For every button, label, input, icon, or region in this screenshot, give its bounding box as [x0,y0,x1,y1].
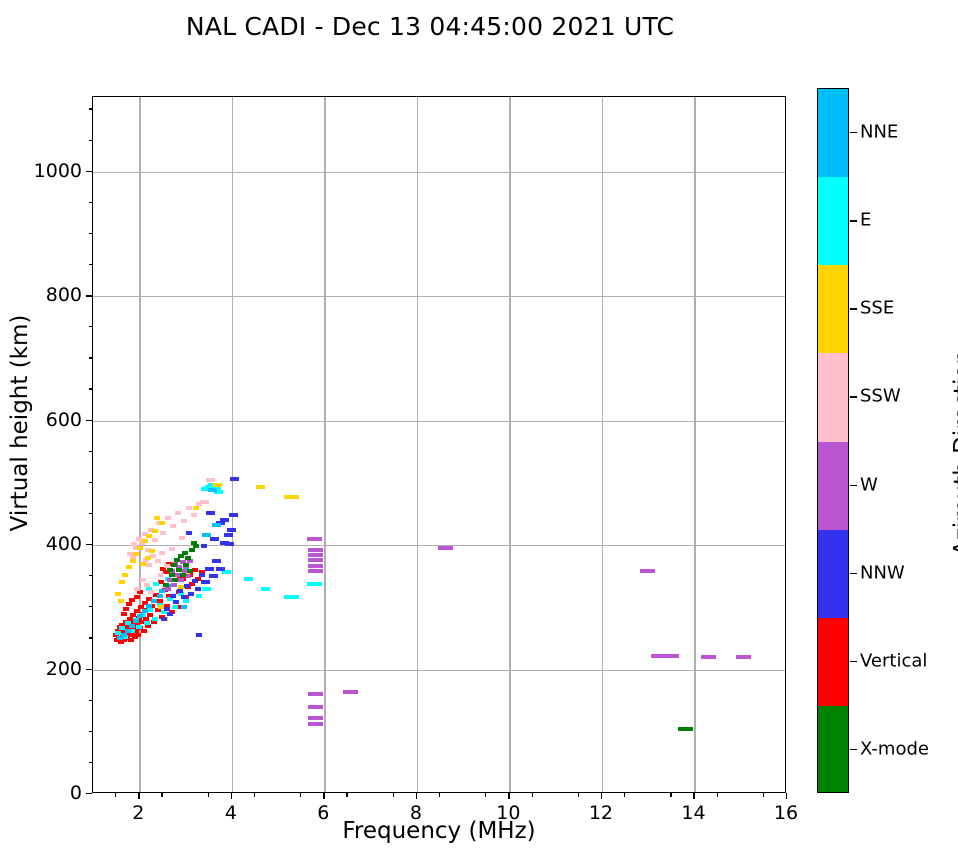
echo-marker [212,559,221,563]
echo-marker [137,546,143,550]
echo-marker [158,605,164,609]
x-axis-minor-tick [485,793,486,797]
colorbar-tick [850,220,857,221]
echo-marker [196,633,202,637]
echo-marker [169,547,175,551]
echo-marker [129,624,135,628]
echo-marker [126,565,132,569]
x-axis-minor-tick [254,793,255,797]
echo-marker [142,609,148,613]
echo-marker [678,727,693,731]
echo-marker [152,617,158,621]
gridline-horizontal [93,421,785,422]
colorbar-tick [850,661,857,662]
x-axis-tick [138,793,139,799]
echo-marker [152,529,158,533]
y-axis-minor-tick [89,264,93,265]
echo-marker [165,587,171,591]
echo-marker [135,633,141,637]
echo-marker [230,477,239,481]
colorbar-tick [850,308,857,309]
echo-marker [284,495,299,499]
gridline-horizontal [93,172,785,173]
echo-marker [183,563,189,567]
colorbar-segment-nnw[interactable] [818,530,848,618]
y-axis-minor-tick [89,233,93,234]
gridline-vertical [509,97,510,792]
echo-marker [213,483,222,487]
gridline-horizontal [93,670,785,671]
gridline-vertical [602,97,603,792]
y-axis-tick [86,669,92,670]
x-axis-tick [231,793,232,799]
echo-marker [308,558,323,562]
y-axis-minor-tick [89,108,93,109]
echo-marker [119,626,125,630]
echo-marker [141,629,147,633]
echo-marker [201,580,210,584]
echo-marker [152,538,158,542]
gridline-vertical [232,97,233,792]
y-axis-minor-tick [89,637,93,638]
x-axis-minor-tick [208,793,209,797]
echo-marker [184,584,190,588]
echo-marker [227,528,236,532]
colorbar-label-nnw: NNW [860,562,905,583]
y-axis-tick [86,793,92,794]
x-axis-minor-tick [115,793,116,797]
echo-marker [208,488,217,492]
y-axis-tick [86,295,92,296]
gridline-vertical [324,97,325,792]
echo-marker [121,612,127,616]
echo-marker [284,595,299,599]
colorbar-label-x-mode: X-mode [860,738,929,759]
y-axis-minor-tick [89,451,93,452]
echo-marker [225,542,234,546]
echo-marker [157,594,163,598]
echo-marker [189,548,195,552]
colorbar-label-w: W [860,474,878,495]
echo-marker [183,599,189,603]
echo-marker [210,537,219,541]
colorbar-segment-w[interactable] [818,442,848,530]
echo-marker [158,573,164,577]
echo-marker [202,587,211,591]
echo-marker [182,551,188,555]
echo-marker [205,567,214,571]
echo-marker [161,617,167,621]
echo-marker [119,580,125,584]
echo-marker [151,620,157,624]
echo-marker [134,595,140,599]
x-axis-minor-tick [763,793,764,797]
y-axis-minor-tick [89,700,93,701]
ionogram-figure: NAL CADI - Dec 13 04:45:00 2021 UTC 2468… [0,0,958,857]
colorbar-title: Azimuth Direction [950,103,958,803]
echo-marker [200,500,209,504]
echo-marker [209,574,218,578]
echo-marker [178,578,184,582]
echo-marker [137,614,143,618]
echo-marker [179,536,185,540]
echo-marker [178,554,184,558]
echo-marker [153,582,159,586]
echo-marker [206,478,215,482]
echo-marker [144,583,150,587]
echo-marker [172,605,178,609]
echo-marker [244,577,253,581]
y-axis-tick [86,544,92,545]
echo-marker [133,552,139,556]
y-axis-label: Virtual height (km) [7,73,33,773]
echo-marker [126,602,132,606]
y-axis-tick [86,171,92,172]
colorbar-label-nne: NNE [860,122,898,143]
y-axis-minor-tick [89,388,93,389]
colorbar-segment-nne[interactable] [818,89,848,177]
echo-marker [193,506,199,510]
echo-marker [170,524,176,528]
echo-marker [151,599,157,603]
colorbar-tick [850,132,857,133]
echo-marker [159,551,165,555]
echo-marker [171,583,177,587]
echo-marker [216,567,225,571]
echo-marker [186,506,192,510]
y-axis-minor-tick [89,482,93,483]
echo-marker [137,590,143,594]
echo-marker [154,516,160,520]
echo-marker [140,562,146,566]
y-axis-minor-tick [89,326,93,327]
echo-marker [186,531,192,535]
gridline-horizontal [93,296,785,297]
y-axis-minor-tick [89,357,93,358]
x-axis-tick [416,793,417,799]
colorbar-segment-sse[interactable] [818,265,848,353]
x-axis-tick [693,793,694,799]
x-axis-minor-tick [670,793,671,797]
echo-marker [736,655,751,659]
x-axis-tick [323,793,324,799]
echo-marker [307,537,322,541]
echo-marker [701,655,716,659]
echo-marker [308,705,323,709]
x-axis-tick [786,793,787,799]
echo-marker [181,519,187,523]
echo-marker [164,607,170,611]
y-axis-minor-tick [89,513,93,514]
echo-marker [308,564,323,568]
echo-marker [142,539,148,543]
echo-marker [115,592,121,596]
echo-marker [146,534,152,538]
y-axis-tick-label: 0 [10,782,82,804]
x-axis-minor-tick [624,793,625,797]
echo-marker [155,559,161,563]
colorbar-segment-vertical[interactable] [818,618,848,706]
echo-marker [220,518,229,522]
echo-marker [144,621,150,625]
echo-marker [195,587,201,591]
y-axis-minor-tick [89,762,93,763]
echo-marker [173,600,179,604]
echo-marker [174,558,180,562]
echo-marker [163,583,169,587]
echo-marker [185,574,191,578]
colorbar-segment-e[interactable] [818,177,848,265]
echo-marker [133,619,139,623]
echo-marker [256,485,265,489]
echo-marker [438,546,453,550]
echo-marker [192,579,198,583]
echo-marker [191,513,197,517]
gridline-vertical [417,97,418,792]
echo-marker [148,590,154,594]
gridline-vertical [694,97,695,792]
y-axis-minor-tick [89,606,93,607]
echo-marker [175,511,181,515]
echo-marker [185,556,191,560]
echo-marker [117,636,123,640]
echo-marker [170,594,176,598]
echo-marker [222,570,231,574]
plot-area[interactable] [92,96,786,793]
y-axis-tick [86,420,92,421]
x-axis-tick [508,793,509,799]
gridline-vertical [139,97,140,792]
echo-marker [181,595,187,599]
echo-marker [165,516,171,520]
echo-marker [308,548,323,552]
echo-marker [229,513,238,517]
colorbar-label-vertical: Vertical [860,650,927,671]
x-axis-minor-tick [439,793,440,797]
echo-marker [212,523,221,527]
echo-marker [201,544,207,548]
echo-marker [206,511,215,515]
echo-marker [149,549,155,553]
echo-marker [224,533,233,537]
echo-marker [343,690,358,694]
echo-marker [188,592,194,596]
echo-marker [308,716,323,720]
echo-marker [202,533,211,537]
echo-marker [193,544,199,548]
echo-marker [180,573,186,577]
echo-marker [307,582,322,586]
echo-marker [640,569,655,573]
echo-marker [308,553,323,557]
echo-marker [145,556,151,560]
echo-marker [177,589,183,593]
echo-marker [169,573,175,577]
echo-marker [187,569,193,573]
echo-marker [146,604,152,608]
echo-marker [261,587,270,591]
echo-marker [122,573,128,577]
colorbar-tick [850,573,857,574]
page-title: NAL CADI - Dec 13 04:45:00 2021 UTC [0,12,860,41]
echo-marker [118,599,124,603]
echo-marker [664,654,679,658]
x-axis-minor-tick [346,793,347,797]
echo-marker [136,625,142,629]
x-axis-minor-tick [300,793,301,797]
colorbar-label-e: E [860,210,871,231]
colorbar[interactable] [817,88,849,793]
echo-marker [146,563,152,567]
x-axis-minor-tick [578,793,579,797]
echo-marker [130,559,136,563]
echo-marker [123,607,129,611]
x-axis-tick [601,793,602,799]
colorbar-label-ssw: SSW [860,386,901,407]
colorbar-tick [850,396,857,397]
y-axis-minor-tick [89,731,93,732]
y-axis-minor-tick [89,140,93,141]
x-axis-minor-tick [532,793,533,797]
echo-marker [181,605,187,609]
echo-marker [134,587,140,591]
colorbar-label-sse: SSE [860,298,894,319]
echo-marker [150,554,156,558]
echo-marker [167,612,173,616]
echo-marker [172,578,178,582]
x-axis-minor-tick [393,793,394,797]
colorbar-segment-x-mode[interactable] [818,706,848,793]
echo-marker [140,578,146,582]
echo-marker [167,568,173,572]
echo-marker [147,608,153,612]
echo-marker [159,521,165,525]
echo-marker [143,617,149,621]
echo-marker [308,569,323,573]
echo-marker [199,573,205,577]
colorbar-tick [850,749,857,750]
x-axis-label: Frequency (MHz) [92,818,786,844]
echo-marker [160,531,166,535]
x-axis-minor-tick [161,793,162,797]
echo-marker [129,598,135,602]
echo-marker [308,722,323,726]
colorbar-segment-ssw[interactable] [818,353,848,441]
y-axis-minor-tick [89,575,93,576]
echo-marker [176,568,182,572]
colorbar-tick [850,485,857,486]
x-axis-minor-tick [717,793,718,797]
y-axis-minor-tick [89,202,93,203]
echo-marker [171,563,177,567]
echo-marker [308,692,323,696]
echo-marker [196,594,202,598]
